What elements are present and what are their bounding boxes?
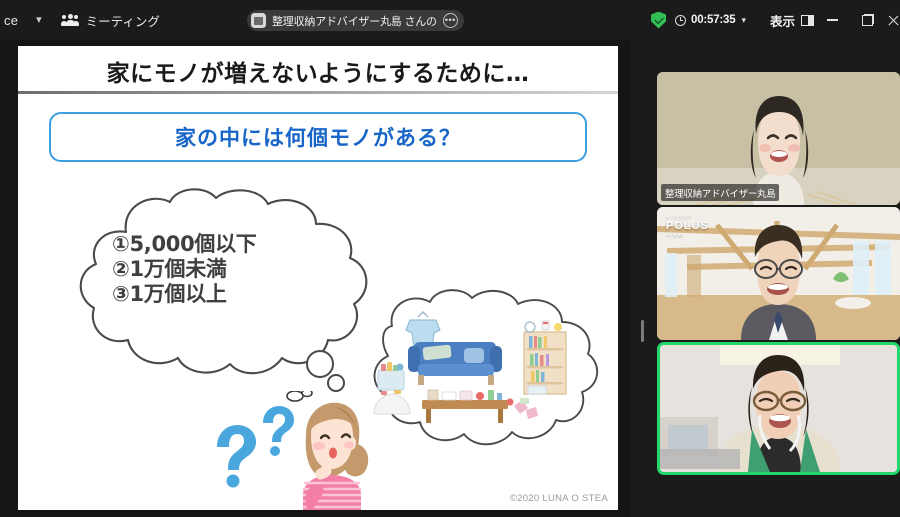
list-item: ①5,000個以下 (112, 232, 257, 257)
participant-video: ● GROUP POLUS VIEW (657, 207, 900, 340)
meeting-timer[interactable]: 00:57:35 ▾ (675, 14, 746, 26)
living-room-illustration (348, 286, 603, 461)
thought-bubble-options: ①5,000個以下 ②1万個未満 ③1万個以上 (64, 184, 394, 394)
titlebar-right-group: 00:57:35 ▾ 表示 (651, 0, 900, 40)
more-options-icon[interactable]: ••• (443, 13, 458, 28)
panel-splitter[interactable] (631, 40, 653, 517)
minimize-button[interactable] (814, 0, 850, 40)
meeting-window: ce ▾ ミーティング 整理収納アドバイザー丸島 さんの ••• 00:57:3… (0, 0, 900, 517)
thinking-woman-illustration (203, 391, 378, 510)
tab-meeting-label: ミーティング (86, 11, 160, 30)
participant-video-panel: 整理収納アドバイザー丸島 (653, 40, 900, 517)
slide-copyright: ©2020 LUNA O STEA (510, 493, 608, 504)
chevron-down-icon[interactable]: ▾ (20, 15, 56, 26)
people-icon (62, 14, 79, 27)
clock-icon (675, 15, 686, 26)
thought-bubble-room (348, 286, 603, 461)
shared-app-icon (251, 13, 266, 28)
account-label[interactable]: ce (4, 13, 20, 28)
window-title-bar: ce ▾ ミーティング 整理収納アドバイザー丸島 さんの ••• 00:57:3… (0, 0, 900, 40)
drag-handle-icon[interactable] (641, 320, 644, 342)
tab-meeting[interactable]: ミーティング (56, 11, 166, 30)
virtual-background-logo: ● GROUP POLUS VIEW (666, 215, 709, 237)
participant-tile[interactable]: 整理収納アドバイザー丸島 (657, 72, 900, 205)
close-button[interactable] (886, 0, 900, 40)
list-item: ③1万個以上 (112, 282, 257, 307)
participant-tile[interactable]: ● GROUP POLUS VIEW (657, 207, 900, 340)
timer-value: 00:57:35 (691, 14, 735, 26)
layout-icon (801, 15, 814, 26)
title-divider (18, 91, 618, 94)
list-item: ②1万個未満 (112, 257, 257, 282)
view-layout-label: 表示 (770, 11, 795, 30)
shared-screen-area[interactable]: 家にモノが増えないようにするために… 家の中には何個モノがある？ ①5,000個… (0, 40, 631, 517)
participant-tile-active-speaker[interactable] (657, 342, 900, 475)
view-layout-button[interactable]: 表示 (770, 11, 814, 30)
chevron-down-icon[interactable]: ▾ (741, 15, 746, 26)
shield-check-icon[interactable] (651, 12, 666, 29)
slide-title: 家にモノが増えないようにするために… (18, 54, 618, 88)
options-list: ①5,000個以下 ②1万個未満 ③1万個以上 (112, 232, 257, 306)
participant-name-tag: 整理収納アドバイザー丸島 (661, 184, 779, 201)
minimize-icon (827, 19, 838, 20)
titlebar-left-group: ce ▾ ミーティング (0, 0, 166, 40)
participant-video (660, 345, 897, 472)
question-text: 家の中には何個モノがある？ (175, 122, 461, 152)
close-icon (887, 14, 899, 26)
screen-share-label: 整理収納アドバイザー丸島 さんの (272, 13, 437, 29)
restore-button[interactable] (850, 0, 886, 40)
question-box: 家の中には何個モノがある？ (49, 112, 587, 162)
screen-share-indicator[interactable]: 整理収納アドバイザー丸島 さんの ••• (247, 10, 464, 31)
presentation-slide: 家にモノが増えないようにするために… 家の中には何個モノがある？ ①5,000個… (18, 46, 618, 510)
restore-icon (862, 14, 874, 26)
